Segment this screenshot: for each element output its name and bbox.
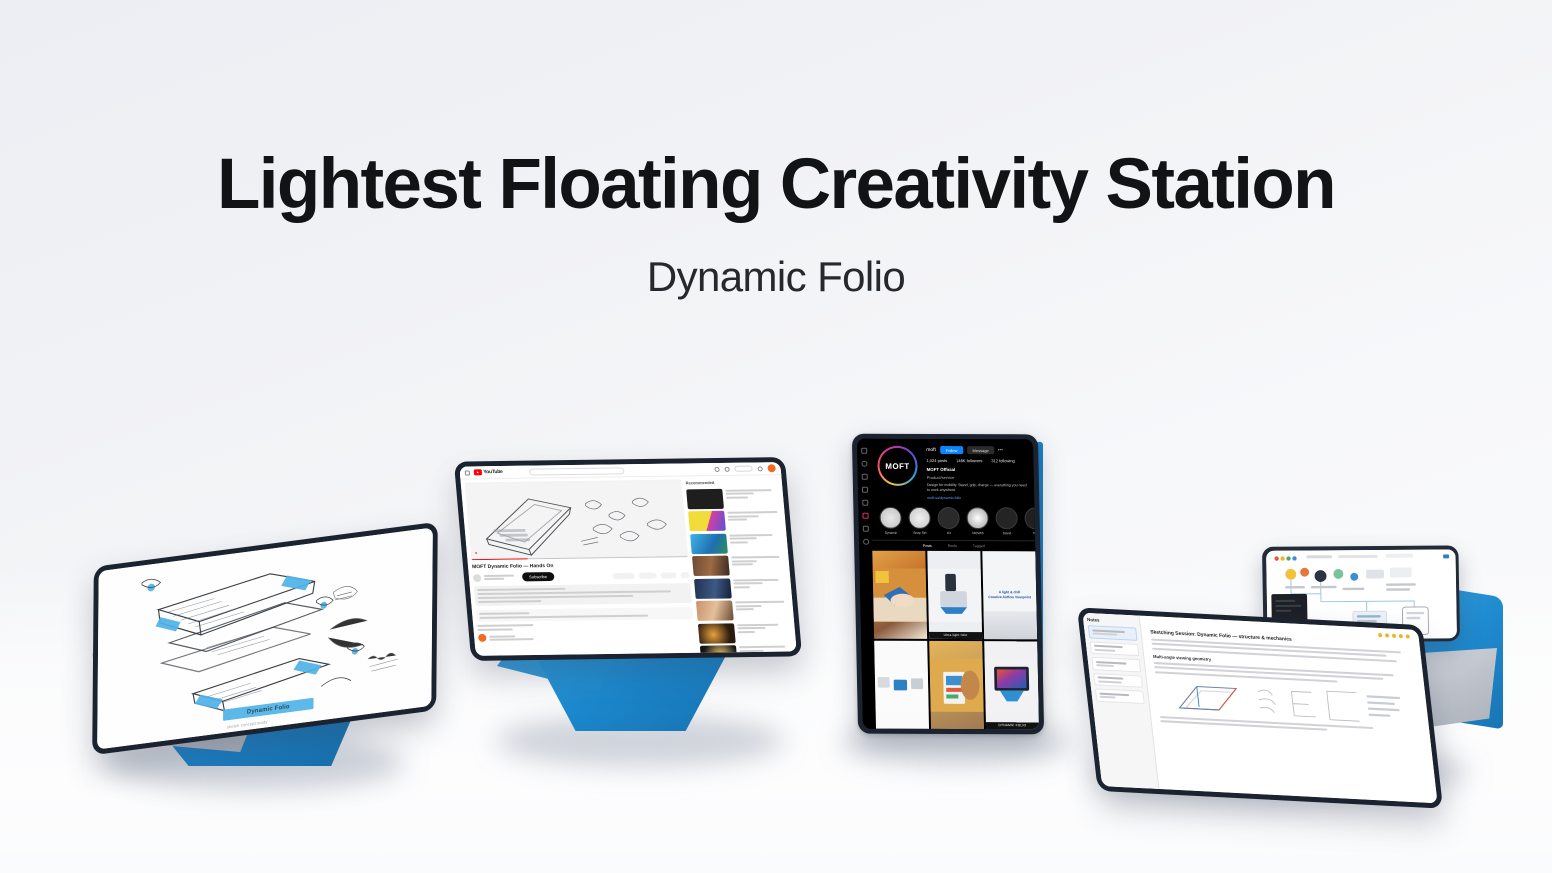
profile-username: moft [926, 447, 936, 453]
profile-info: moft Follow Message ••• 1,024 posts 148K… [926, 446, 1027, 500]
avatar[interactable]: MOFT [877, 446, 918, 486]
tab-posts[interactable]: Posts [923, 544, 932, 548]
video-thumbnail [688, 511, 726, 531]
highlight-label: Stand [1003, 531, 1011, 535]
note-list-item[interactable] [1088, 625, 1138, 640]
video-site-app[interactable]: YouTube [459, 462, 796, 656]
tablet-social-screen[interactable]: MOFT moft Follow Message ••• [857, 439, 1039, 730]
grid-photo [872, 550, 927, 639]
product-scene: Dynamic Folio sketch concept study YouTu… [0, 0, 1552, 873]
highlight-item[interactable]: Stand [995, 507, 1018, 535]
video-meta [725, 488, 781, 509]
video-transcript-box[interactable] [476, 607, 694, 622]
highlight-cover [937, 507, 959, 529]
save-button[interactable] [660, 572, 677, 578]
highlight-label: Dynamic [885, 531, 897, 535]
video-thumbnail [700, 645, 738, 656]
list-item[interactable] [692, 555, 787, 576]
device-tablet-sketch[interactable]: Dynamic Folio sketch concept study [78, 540, 468, 820]
home-icon[interactable] [861, 448, 867, 454]
video-title: MOFT Dynamic Folio — Hands On [472, 561, 689, 570]
video-actions [612, 572, 690, 579]
live-badge: ● [475, 550, 478, 555]
comment-row [478, 631, 695, 642]
grid-photo [984, 641, 1039, 730]
highlight-item[interactable]: Dynamic [879, 507, 902, 535]
tablet-notes-body[interactable]: Notes [1077, 607, 1443, 808]
profile-header: MOFT moft Follow Message ••• [870, 439, 1034, 501]
list-item[interactable] [686, 488, 781, 509]
follow-button[interactable]: Follow [940, 446, 964, 454]
comment-text [489, 635, 534, 641]
photo-grid: Ultra-light folio A light & chillCreativ… [872, 550, 1039, 729]
grid-photo [929, 641, 984, 730]
video-frame-sketch [465, 479, 688, 560]
profile-logo: MOFT [879, 448, 916, 484]
messages-icon[interactable] [862, 500, 868, 506]
profile-tabs: Posts Reels Tagged [872, 540, 1035, 551]
grid-item[interactable]: DYNAMIC FOLIO [984, 641, 1039, 730]
avatar[interactable] [767, 464, 776, 472]
social-main: MOFT moft Follow Message ••• [870, 439, 1039, 730]
list-item[interactable] [694, 577, 789, 598]
sketch-drawing [97, 527, 433, 749]
tablet-video-screen[interactable]: YouTube [459, 462, 796, 656]
grid-item[interactable]: Ultra-light folio [927, 551, 982, 640]
profile-bio: Design for mobility. Stand, grip, charge… [927, 483, 1027, 494]
video-thumbnail [690, 533, 728, 553]
grid-photo [927, 551, 982, 640]
create-icon[interactable] [862, 526, 868, 532]
more-button[interactable] [680, 572, 690, 578]
grid-item[interactable] [929, 641, 984, 730]
list-item[interactable] [690, 532, 785, 553]
menu-icon[interactable] [465, 470, 470, 475]
grid-caption: Ultra-light folio [929, 632, 982, 639]
highlight-cover [879, 507, 901, 529]
notes-document[interactable]: Sketching Session: Dynamic Folio — struc… [1140, 616, 1438, 804]
video-site-body: ● MOFT Dynamic Folio — Hands On [460, 475, 796, 656]
profile-display-name: MOFT Official [927, 467, 1027, 472]
grid-photo [983, 611, 1037, 639]
highlight-label: MOVAS [972, 531, 983, 535]
tablet-video-body[interactable]: YouTube [454, 457, 802, 661]
highlight-item[interactable]: Tour [1024, 507, 1035, 535]
channel-meta [484, 575, 515, 580]
profile-icon[interactable] [863, 539, 869, 545]
stat-following[interactable]: 312 following [991, 458, 1014, 463]
highlight-cover [1024, 507, 1035, 529]
video-meta [739, 644, 795, 655]
highlighter-icon[interactable] [1385, 633, 1389, 637]
video-player[interactable]: ● [465, 479, 688, 560]
sidebar-header: Recommended [685, 479, 779, 485]
device-tablet-video[interactable]: YouTube [455, 455, 815, 765]
grid-caption: DYNAMIC FOLIO [986, 722, 1039, 729]
sign-in-button[interactable] [734, 466, 753, 472]
highlight-item[interactable]: Kit [937, 507, 960, 535]
video-meta [733, 577, 789, 598]
social-profile-app[interactable]: MOFT moft Follow Message ••• [857, 439, 1039, 730]
highlight-cover [908, 507, 930, 529]
search-input[interactable] [528, 467, 624, 475]
profile-category: Product/service [927, 475, 1027, 480]
explore-icon[interactable] [861, 474, 867, 480]
search-icon[interactable] [861, 461, 867, 467]
like-button[interactable] [612, 572, 635, 578]
device-tablet-social[interactable]: MOFT moft Follow Message ••• [845, 428, 1085, 748]
highlight-label: Snap Set [913, 531, 926, 535]
grid-item[interactable] [872, 550, 927, 639]
device-tablet-notes-group[interactable]: Notes [1085, 540, 1515, 830]
video-thumbnail [686, 488, 724, 508]
notes-app[interactable]: Notes [1082, 613, 1437, 804]
list-item[interactable] [688, 510, 783, 531]
brand-wordmark: YouTube [483, 469, 503, 475]
channel-avatar[interactable] [473, 574, 482, 582]
tablet-notes-screen[interactable]: Notes [1082, 613, 1437, 804]
share-button[interactable] [638, 572, 657, 578]
video-meta [731, 555, 787, 576]
note-list-item[interactable] [1090, 641, 1140, 656]
grid-item[interactable]: A light & chillCreative Airflow Viewpoin… [982, 551, 1037, 640]
video-meta [735, 600, 791, 621]
youtube-logo[interactable]: YouTube [474, 469, 503, 475]
video-channel-row: Subscribe [473, 570, 690, 582]
more-options-icon[interactable]: ••• [998, 447, 1003, 453]
video-thumbnail [694, 578, 732, 598]
tablet-social-body[interactable]: MOFT moft Follow Message ••• [852, 434, 1044, 735]
highlight-label: Kit [947, 531, 951, 535]
video-thumbnail [698, 623, 736, 643]
grid-photo [874, 640, 929, 729]
video-thumbnail [692, 556, 730, 576]
stat-followers[interactable]: 148K followers [956, 458, 982, 463]
pen-icon[interactable] [1378, 633, 1382, 637]
tablet-sketch-screen[interactable]: Dynamic Folio sketch concept study [97, 527, 433, 749]
video-thumbnail [696, 600, 734, 620]
video-comments [477, 622, 694, 631]
highlight-item[interactable]: MOVAS [966, 507, 989, 535]
text-icon[interactable] [1406, 634, 1410, 638]
stat-posts: 1,024 posts [926, 458, 947, 463]
note-list-item[interactable] [1091, 657, 1141, 672]
commenter-avatar [478, 634, 487, 642]
note-list-item[interactable] [1093, 673, 1143, 688]
profile-stats: 1,024 posts 148K followers 312 following [926, 458, 1026, 463]
notifications-icon[interactable] [862, 513, 868, 519]
reels-icon[interactable] [861, 487, 867, 493]
apps-icon[interactable] [724, 466, 729, 471]
message-button[interactable]: Message [967, 446, 993, 454]
create-icon[interactable] [714, 466, 719, 471]
grid-item[interactable] [874, 640, 929, 729]
subscribe-button[interactable]: Subscribe [522, 572, 555, 581]
list-item[interactable] [700, 644, 795, 655]
highlight-label: Tour [1033, 531, 1035, 535]
video-meta [729, 532, 785, 553]
story-highlights: Dynamic Snap Set Kit [871, 500, 1035, 541]
tab-tagged[interactable]: Tagged [973, 544, 985, 548]
tab-reels[interactable]: Reels [948, 544, 957, 548]
tablet-sketch-body[interactable]: Dynamic Folio sketch concept study [92, 522, 438, 756]
header-actions [714, 464, 776, 473]
profile-actions-row: moft Follow Message ••• [926, 446, 1026, 455]
shapes-icon[interactable] [1399, 634, 1403, 638]
video-main-column: ● MOFT Dynamic Folio — Hands On [460, 476, 700, 655]
highlight-cover [995, 507, 1017, 529]
video-meta [737, 622, 793, 643]
highlight-item[interactable]: Snap Set [908, 507, 931, 535]
video-description[interactable] [474, 583, 692, 606]
video-meta [727, 510, 783, 531]
play-icon [474, 469, 483, 475]
notifications-icon[interactable] [757, 466, 762, 471]
notes-sidebar-header: Notes [1087, 617, 1136, 625]
highlight-cover [966, 507, 988, 529]
list-item[interactable] [696, 600, 791, 621]
eraser-icon[interactable] [1392, 634, 1396, 638]
list-item[interactable] [698, 622, 793, 643]
video-sidebar: Recommended [685, 475, 797, 653]
note-list-item[interactable] [1095, 689, 1145, 704]
